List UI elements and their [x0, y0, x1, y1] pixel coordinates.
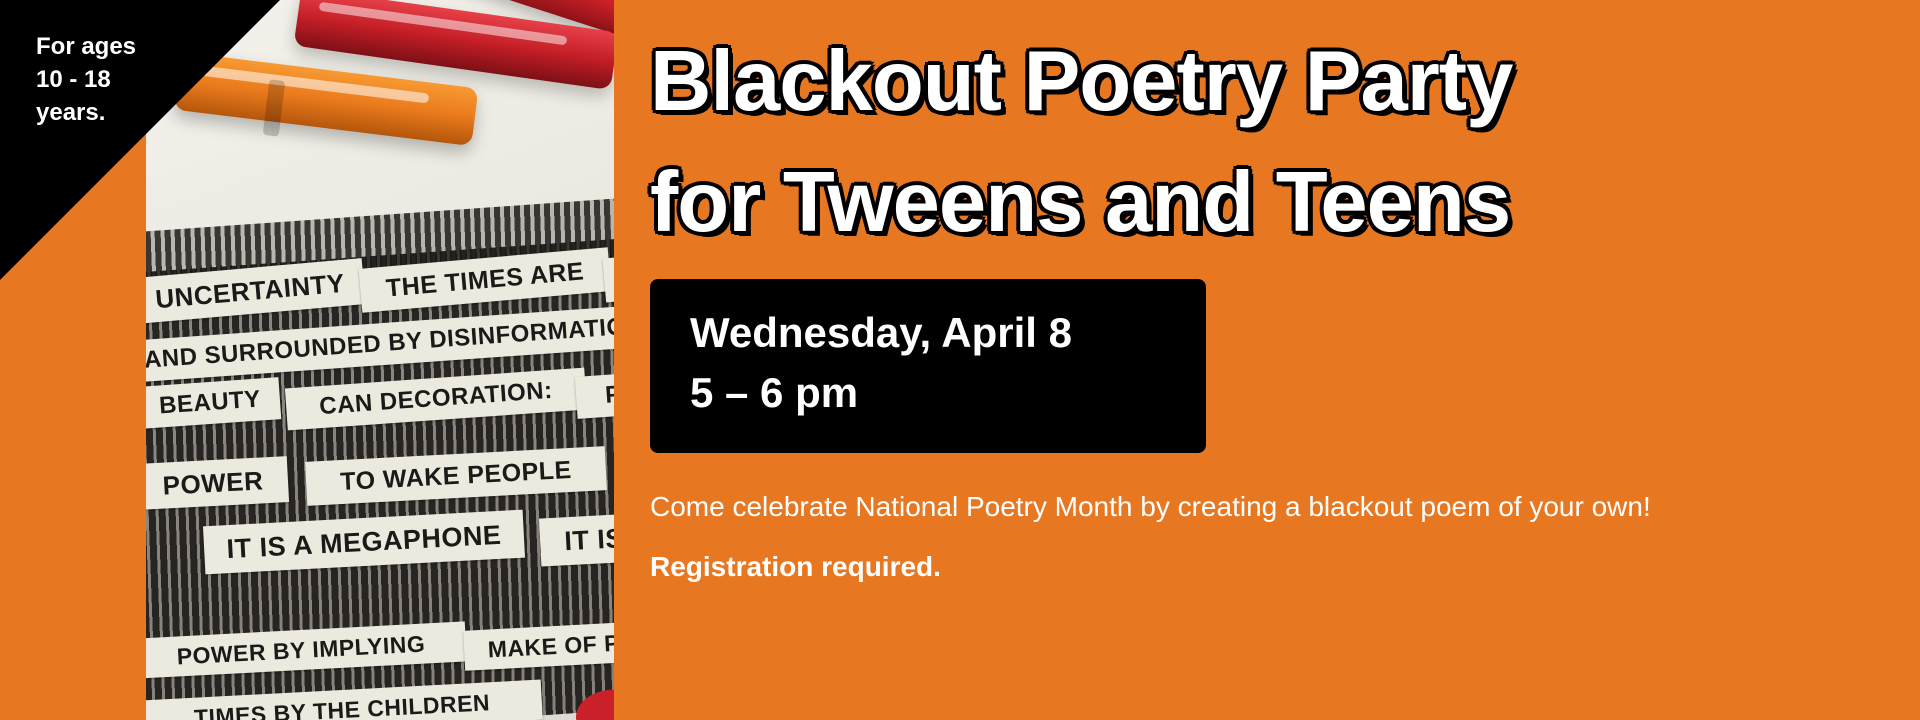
registration-note: Registration required. [650, 549, 1920, 585]
poem-word-strip: POWER [146, 456, 289, 510]
event-title: Blackout Poetry Party for Tweens and Tee… [650, 0, 1920, 263]
event-banner: UNCERTAINTYTHE TIMES AREDISINFOAND SURRO… [0, 0, 1920, 720]
event-time: 5 – 6 pm [690, 363, 1166, 423]
event-date-box: Wednesday, April 8 5 – 6 pm [650, 279, 1206, 452]
event-title-line-2: for Tweens and Teens [650, 143, 1920, 264]
event-date: Wednesday, April 8 [690, 303, 1166, 363]
age-range-text: For ages 10 - 18 years. [36, 30, 136, 129]
event-description: Come celebrate National Poetry Month by … [650, 489, 1920, 525]
content-column: Blackout Poetry Party for Tweens and Tee… [650, 0, 1920, 720]
image-column: UNCERTAINTYTHE TIMES AREDISINFOAND SURRO… [0, 0, 614, 720]
blackout-poetry-photo: UNCERTAINTYTHE TIMES AREDISINFOAND SURRO… [146, 0, 614, 720]
event-title-line-1: Blackout Poetry Party [650, 22, 1920, 143]
